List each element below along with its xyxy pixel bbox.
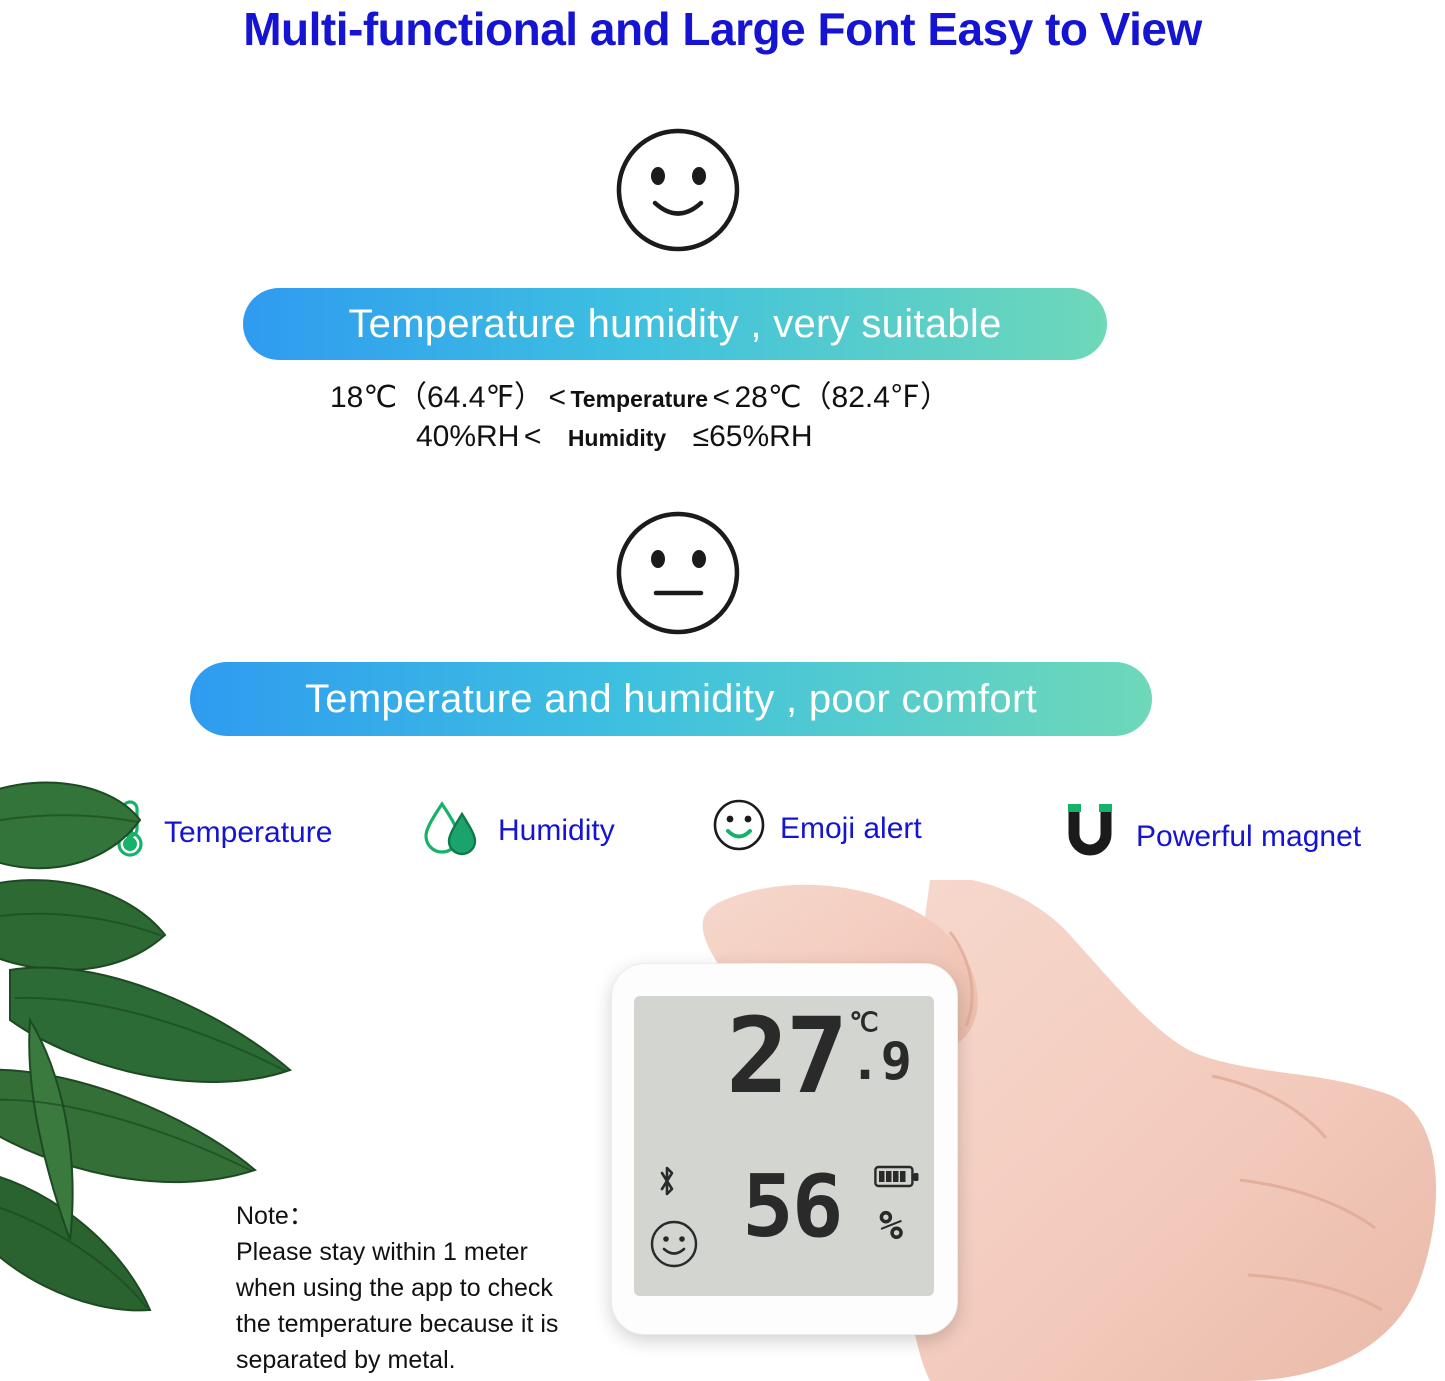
comfort-poor-banner: Temperature and humidity , poor comfort (190, 662, 1152, 736)
note-line-1: Please stay within 1 meter (236, 1234, 596, 1270)
temp-range-left: 18℃（64.4℉） (330, 381, 544, 414)
feature-humidity: Humidity (422, 798, 615, 864)
humidity-range-spec: 40%RH < Humidity ≤65%RH (416, 420, 813, 454)
temperature-range-spec: 18℃（64.4℉） < Temperature < 28℃（82.4℉） (330, 372, 950, 416)
note-heading: Note： (236, 1198, 596, 1234)
lcd-humidity-value: 56 (742, 1164, 842, 1250)
note-line-2: when using the app to check (236, 1270, 596, 1306)
temp-range-op1: < (548, 381, 566, 414)
hum-range-op1: < (524, 420, 542, 453)
temp-range-right: 28℃（82.4℉） (735, 381, 950, 414)
note-block: Note： Please stay within 1 meter when us… (236, 1198, 596, 1378)
magnet-icon (1058, 802, 1122, 872)
temp-range-middle: Temperature (570, 386, 708, 412)
lcd-temperature-value: 27 (726, 1004, 845, 1108)
hum-range-left: 40%RH (416, 420, 519, 453)
feature-humidity-label: Humidity (498, 814, 615, 848)
neutral-face-icon (613, 508, 743, 638)
lcd-humidity-row: 56 % (634, 1146, 934, 1286)
page-title: Multi-functional and Large Font Easy to … (0, 2, 1445, 56)
feature-magnet: Powerful magnet (1058, 802, 1361, 872)
note-line-3: the temperature because it is (236, 1306, 596, 1342)
emoji-face-icon (712, 798, 766, 860)
hum-range-right: ≤65%RH (693, 420, 813, 453)
smiley-status-icon (648, 1218, 700, 1275)
note-line-4: separated by metal. (236, 1342, 596, 1378)
feature-emoji-alert: Emoji alert (712, 798, 922, 860)
hand-holding-device: 27 ℃ .9 (600, 880, 1445, 1381)
water-drop-icon (422, 798, 484, 864)
lcd-humidity-unit: % (879, 1206, 903, 1246)
temp-range-op2: < (713, 381, 731, 414)
comfort-good-banner: Temperature humidity , very suitable (243, 288, 1107, 360)
feature-magnet-label: Powerful magnet (1136, 820, 1361, 854)
feature-emoji-alert-label: Emoji alert (780, 812, 922, 846)
smiling-face-icon (613, 125, 743, 255)
bluetooth-icon (656, 1164, 678, 1203)
hum-range-middle: Humidity (568, 425, 666, 451)
device-lcd-screen: 27 ℃ .9 (634, 996, 934, 1296)
thermometer-hygrometer-device: 27 ℃ .9 (611, 963, 958, 1335)
lcd-temperature-row: 27 ℃ .9 (662, 1004, 912, 1134)
lcd-temperature-decimal: .9 (849, 1036, 912, 1088)
battery-icon (874, 1164, 920, 1195)
